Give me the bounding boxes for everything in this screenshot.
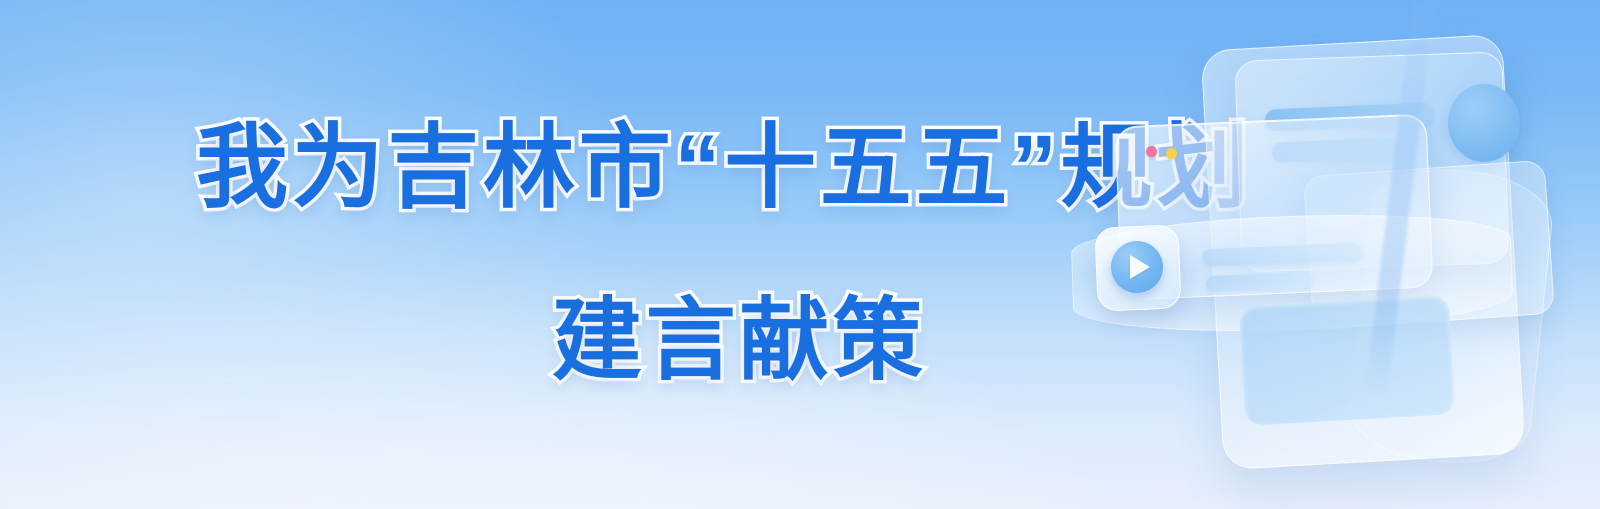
window-dot-pink-icon: [1146, 146, 1157, 157]
play-icon: [1130, 255, 1150, 279]
window-dot-yellow-icon: [1166, 148, 1177, 159]
avatar-circle-icon: [1448, 84, 1520, 162]
phone-inner-rectangle: [1239, 294, 1455, 426]
glass-device-illustration: [1060, 0, 1600, 509]
banner-title-block: 我为吉林市“十五五”规划 建言献策: [0, 0, 1180, 509]
promo-banner: 我为吉林市“十五五”规划 建言献策: [0, 0, 1600, 509]
banner-title-line-2: 建言献策: [552, 292, 926, 390]
